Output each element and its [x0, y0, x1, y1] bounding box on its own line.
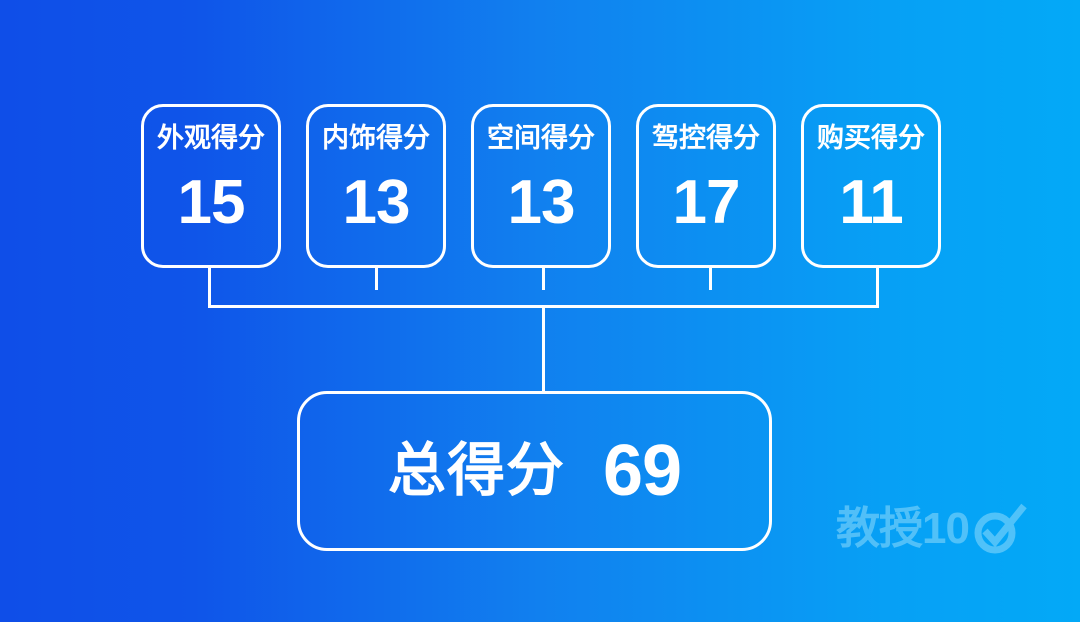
scorecard-value: 17 [673, 172, 740, 234]
circle-check-icon [970, 503, 1028, 555]
scorecard-value: 13 [343, 172, 410, 234]
scorecard-value: 11 [839, 172, 903, 234]
scorecard-purchase[interactable]: 购买得分 11 [801, 104, 941, 268]
infographic-canvas: 外观得分 15 内饰得分 13 空间得分 13 驾控得分 17 购买得分 11 [0, 0, 1080, 622]
total-score-value: 69 [603, 435, 681, 507]
scorecard-space[interactable]: 空间得分 13 [471, 104, 611, 268]
total-score-box[interactable]: 总得分 69 [297, 391, 772, 551]
scorecard-label: 外观得分 [157, 124, 265, 152]
watermark-logo: 教授10 [836, 500, 1052, 558]
scorecard-label: 驾控得分 [652, 124, 760, 152]
scorecard-interior[interactable]: 内饰得分 13 [306, 104, 446, 268]
scorecard-label: 空间得分 [487, 124, 595, 152]
scorecard-label: 购买得分 [817, 124, 925, 152]
scorecard-appearance[interactable]: 外观得分 15 [141, 104, 281, 268]
scorecard-row: 外观得分 15 内饰得分 13 空间得分 13 驾控得分 17 购买得分 11 [141, 104, 941, 268]
scorecard-value: 13 [508, 172, 575, 234]
scorecard-value: 15 [178, 172, 245, 234]
total-score-label: 总得分 [388, 442, 565, 500]
watermark-text: 教授10 [836, 507, 969, 551]
scorecard-driving[interactable]: 驾控得分 17 [636, 104, 776, 268]
scorecard-label: 内饰得分 [322, 124, 430, 152]
